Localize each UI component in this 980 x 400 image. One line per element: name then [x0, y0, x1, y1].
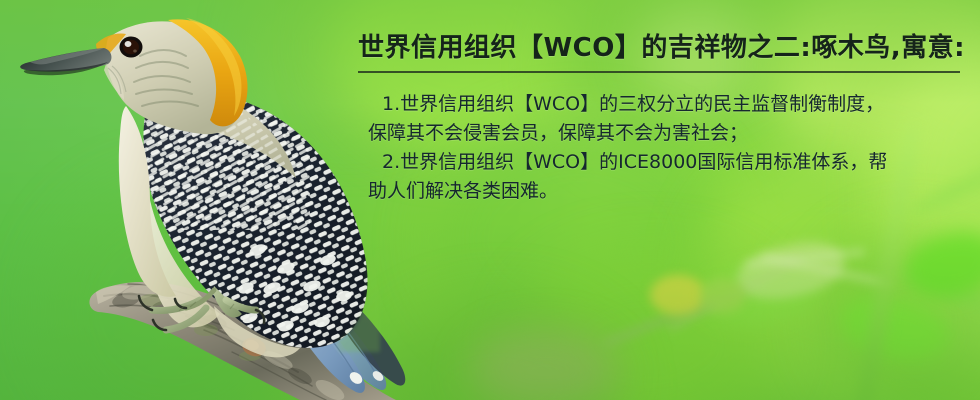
- list-item: 1.世界信用组织【WCO】的三权分立的民主监督制衡制度， 保障其不会侵害会员，保…: [366, 90, 966, 148]
- title-divider: [358, 71, 960, 73]
- wco-mascot-banner: 世界信用组织【WCO】的吉祥物之二:啄木鸟,寓意: 1.世界信用组织【WCO】的…: [0, 0, 980, 400]
- banner-text-panel: 世界信用组织【WCO】的吉祥物之二:啄木鸟,寓意: 1.世界信用组织【WCO】的…: [352, 0, 980, 400]
- list-item: 2.世界信用组织【WCO】的ICE8000国际信用标准体系，帮 助人们解决各类困…: [366, 148, 966, 206]
- banner-body: 1.世界信用组织【WCO】的三权分立的民主监督制衡制度， 保障其不会侵害会员，保…: [366, 90, 966, 206]
- list-item-line: 2.世界信用组织【WCO】的ICE8000国际信用标准体系，帮: [366, 148, 966, 177]
- bird-beak: [20, 48, 111, 72]
- bird-head: [20, 18, 247, 134]
- banner-title: 世界信用组织【WCO】的吉祥物之二:啄木鸟,寓意:: [358, 27, 965, 64]
- list-item-line: 保障其不会侵害会员，保障其不会为害社会；: [366, 119, 966, 148]
- list-item-line: 助人们解决各类困难。: [366, 177, 966, 206]
- list-item-line: 1.世界信用组织【WCO】的三权分立的民主监督制衡制度，: [366, 90, 966, 119]
